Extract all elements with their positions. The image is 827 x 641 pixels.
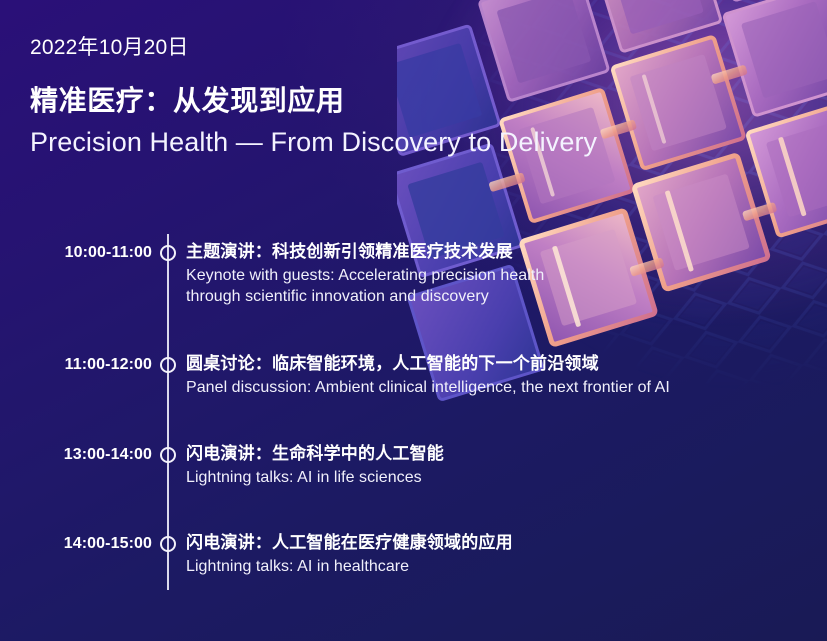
event-agenda-poster: 2022年10月20日 精准医疗：从发现到应用 Precision Health… [0, 0, 827, 641]
session-description-english: Lightning talks: AI in healthcare [186, 557, 819, 578]
circle-outline-icon [160, 536, 176, 552]
session-description-line: Keynote with guests: Accelerating precis… [186, 266, 819, 287]
session-body: 闪电演讲：人工智能在医疗健康领域的应用 Lightning talks: AI … [186, 532, 819, 578]
circle-outline-icon [160, 357, 176, 373]
session-body: 圆桌讨论：临床智能环境，人工智能的下一个前沿领域 Panel discussio… [186, 353, 819, 399]
session-description-line: through scientific innovation and discov… [186, 287, 819, 308]
session-time: 14:00-15:00 [0, 535, 152, 553]
circle-outline-icon [160, 447, 176, 463]
session-description-english: Lightning talks: AI in life sciences [186, 468, 819, 489]
circle-outline-icon [160, 245, 176, 261]
session-body: 闪电演讲：生命科学中的人工智能 Lightning talks: AI in l… [186, 443, 819, 489]
session-time: 10:00-11:00 [0, 244, 152, 262]
session-time: 11:00-12:00 [0, 356, 152, 374]
session-time: 13:00-14:00 [0, 446, 152, 464]
session-title-chinese: 闪电演讲：生命科学中的人工智能 [186, 443, 819, 465]
session-body: 主题演讲：科技创新引领精准医疗技术发展 Keynote with guests:… [186, 241, 819, 307]
session-title-chinese: 主题演讲：科技创新引领精准医疗技术发展 [186, 241, 819, 263]
agenda-timeline: 10:00-11:00 主题演讲：科技创新引领精准医疗技术发展 Keynote … [0, 0, 827, 641]
session-title-chinese: 圆桌讨论：临床智能环境，人工智能的下一个前沿领域 [186, 353, 819, 375]
session-description-line: Lightning talks: AI in healthcare [186, 557, 819, 578]
session-description-english: Panel discussion: Ambient clinical intel… [186, 378, 819, 399]
session-title-chinese: 闪电演讲：人工智能在医疗健康领域的应用 [186, 532, 819, 554]
session-description-line: Panel discussion: Ambient clinical intel… [186, 378, 819, 399]
session-description-english: Keynote with guests: Accelerating precis… [186, 266, 819, 308]
session-description-line: Lightning talks: AI in life sciences [186, 468, 819, 489]
